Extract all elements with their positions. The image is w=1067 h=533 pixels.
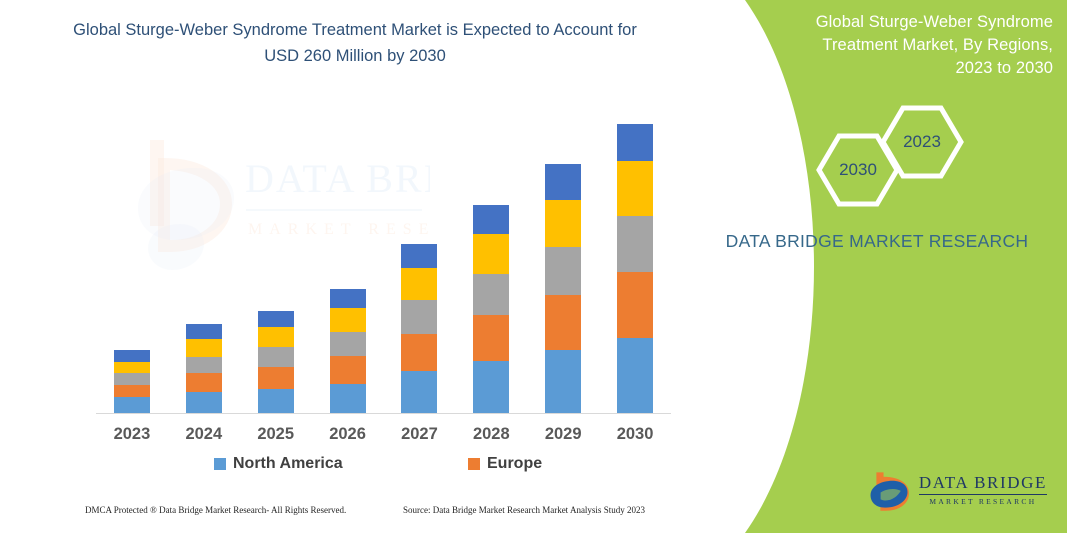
bar-segment-2030-s1 (617, 272, 653, 338)
bar-column-2023 (114, 350, 150, 413)
legend-label: North America (233, 455, 343, 473)
x-tick-2027: 2027 (383, 425, 455, 444)
data-bridge-logo: DATA BRIDGE MARKET RESEARCH (868, 469, 1047, 511)
bar-column-2029 (545, 164, 581, 413)
bar-segment-2029-s4 (545, 164, 581, 200)
bar-column-2026 (330, 289, 366, 413)
x-axis-baseline (96, 413, 671, 414)
bar-segment-2029-s3 (545, 200, 581, 247)
bar-segment-2024-s1 (186, 373, 222, 392)
bar-segment-2025-s2 (258, 347, 294, 367)
footer: DMCA Protected ® Data Bridge Market Rese… (0, 505, 700, 527)
x-tick-2025: 2025 (240, 425, 312, 444)
x-tick-2023: 2023 (96, 425, 168, 444)
legend-item-europe[interactable]: Europe (468, 455, 542, 473)
x-axis-labels: 20232024202520262027202820292030 (96, 425, 671, 453)
green-side-panel: Global Sturge-Weber Syndrome Treatment M… (687, 0, 1067, 533)
chart-panel: Global Sturge-Weber Syndrome Treatment M… (0, 0, 700, 533)
panel-title: Global Sturge-Weber Syndrome Treatment M… (781, 11, 1053, 80)
bar-segment-2026-s2 (330, 332, 366, 356)
hex-badge-2030-label: 2030 (839, 160, 877, 180)
bar-segment-2023-s1 (114, 385, 150, 398)
bar-segment-2027-s2 (401, 300, 437, 333)
panel-brand-text: DATA BRIDGE MARKET RESEARCH (687, 228, 1067, 254)
bar-segment-2025-s3 (258, 327, 294, 347)
bar-segment-2023-s0 (114, 397, 150, 413)
bar-segment-2023-s3 (114, 362, 150, 373)
page-title: Global Sturge-Weber Syndrome Treatment M… (60, 17, 650, 69)
x-tick-2028: 2028 (455, 425, 527, 444)
hex-badge-2023-label: 2023 (903, 132, 941, 152)
bar-column-2028 (473, 205, 509, 413)
bar-segment-2024-s4 (186, 324, 222, 339)
logo-subtitle: MARKET RESEARCH (919, 495, 1047, 506)
legend-swatch-icon (214, 458, 226, 470)
bar-segment-2023-s2 (114, 373, 150, 384)
legend-item-north-america[interactable]: North America (214, 455, 343, 473)
bar-segment-2027-s0 (401, 371, 437, 413)
bar-segment-2028-s3 (473, 234, 509, 274)
bar-segment-2026-s3 (330, 308, 366, 332)
bar-segment-2028-s1 (473, 315, 509, 361)
logo-title: DATA BRIDGE (919, 474, 1047, 495)
plot-area (96, 110, 671, 414)
hexagon-badges: 2030 2023 (807, 104, 987, 204)
footer-copyright: DMCA Protected ® Data Bridge Market Rese… (85, 505, 346, 515)
bar-segment-2025-s0 (258, 389, 294, 413)
bar-segment-2026-s0 (330, 384, 366, 413)
bar-segment-2029-s1 (545, 295, 581, 350)
bar-segment-2027-s3 (401, 268, 437, 300)
bar-segment-2024-s2 (186, 357, 222, 374)
x-tick-2024: 2024 (168, 425, 240, 444)
bar-segment-2030-s4 (617, 124, 653, 162)
bar-segment-2029-s0 (545, 350, 581, 413)
bar-segment-2026-s1 (330, 356, 366, 384)
bar-segment-2028-s4 (473, 205, 509, 234)
bar-segment-2027-s4 (401, 244, 437, 268)
bar-segment-2030-s2 (617, 216, 653, 272)
footer-source: Source: Data Bridge Market Research Mark… (403, 505, 645, 515)
bar-segment-2028-s0 (473, 361, 509, 413)
chart-legend: North AmericaEurope (96, 455, 671, 481)
legend-swatch-icon (468, 458, 480, 470)
hex-badge-2023: 2023 (879, 104, 965, 180)
bar-segment-2024-s0 (186, 392, 222, 413)
bar-segment-2025-s1 (258, 367, 294, 389)
legend-label: Europe (487, 455, 542, 473)
x-tick-2029: 2029 (527, 425, 599, 444)
bar-segment-2027-s1 (401, 334, 437, 372)
bar-segment-2029-s2 (545, 247, 581, 295)
bar-column-2027 (401, 244, 437, 413)
bar-segment-2030-s0 (617, 338, 653, 413)
bar-segment-2023-s4 (114, 350, 150, 361)
bar-segment-2026-s4 (330, 289, 366, 308)
bar-segment-2030-s3 (617, 161, 653, 215)
bar-column-2030 (617, 124, 653, 413)
bar-segment-2025-s4 (258, 311, 294, 328)
logo-b-mark (868, 469, 910, 511)
bar-segment-2024-s3 (186, 339, 222, 357)
bar-column-2025 (258, 311, 294, 413)
x-tick-2030: 2030 (599, 425, 671, 444)
bar-column-2024 (186, 324, 222, 413)
bar-segment-2028-s2 (473, 274, 509, 315)
x-tick-2026: 2026 (312, 425, 384, 444)
